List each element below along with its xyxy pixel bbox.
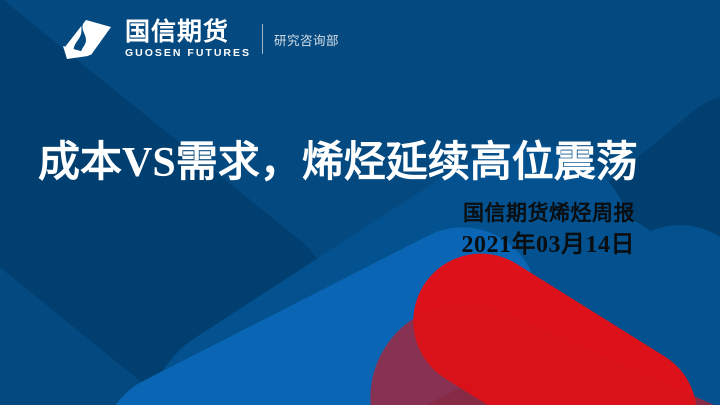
page-title: 成本VS需求，烯烃延续高位震荡 bbox=[38, 128, 638, 189]
department-label: 研究咨询部 bbox=[274, 30, 339, 49]
title-slide: 国信期货 GUOSEN FUTURES 研究咨询部 成本VS需求，烯烃延续高位震… bbox=[0, 0, 720, 405]
brand-header: 国信期货 GUOSEN FUTURES 研究咨询部 bbox=[58, 16, 339, 62]
report-date: 2021年03月14日 bbox=[462, 230, 636, 260]
guosen-logo-mark-icon bbox=[58, 16, 116, 62]
logo-wordmark: 国信期货 GUOSEN FUTURES bbox=[125, 19, 251, 60]
subtitle-block: 国信期货烯烃周报 2021年03月14日 bbox=[462, 200, 636, 260]
logo-company-cn: 国信期货 bbox=[125, 19, 251, 45]
logo-company-en: GUOSEN FUTURES bbox=[125, 47, 251, 60]
logo-divider bbox=[262, 24, 263, 54]
report-subtitle: 国信期货烯烃周报 bbox=[462, 200, 636, 226]
